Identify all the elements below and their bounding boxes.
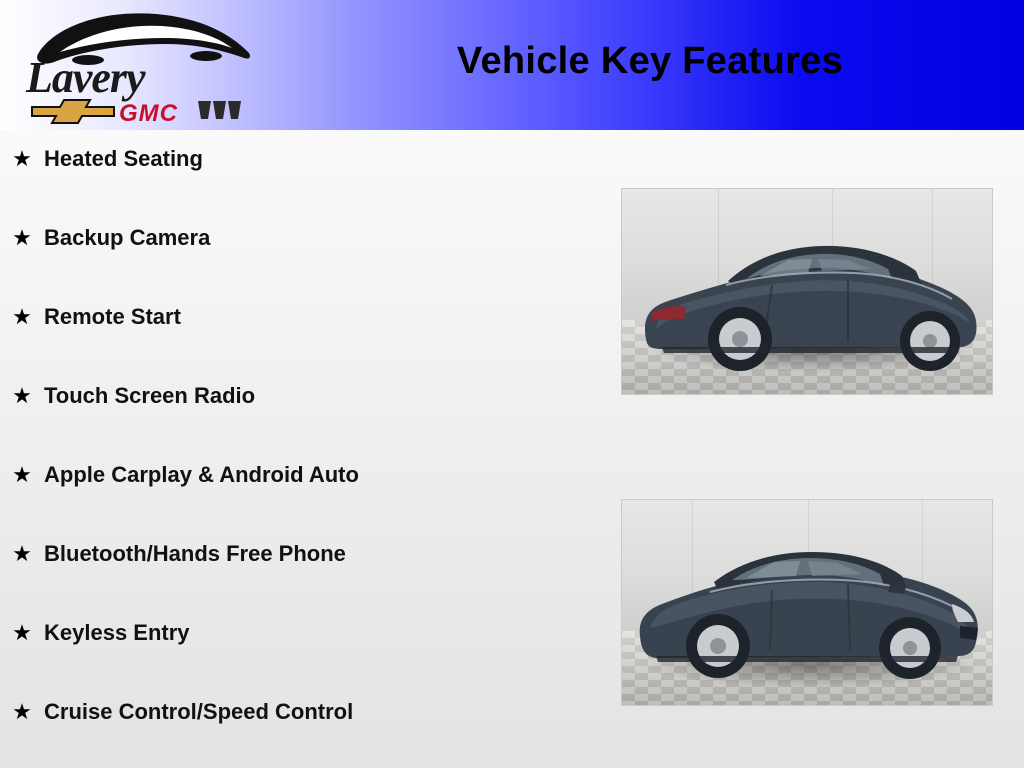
feature-label: Touch Screen Radio: [44, 383, 255, 409]
star-bullet-icon: ★: [0, 543, 44, 565]
car-body-illustration: [622, 189, 993, 395]
logo-gmc-text: GMC: [119, 100, 178, 128]
page-title: Vehicle Key Features: [300, 40, 1000, 83]
buick-tri-shield-icon: [196, 98, 242, 122]
list-item: ★ Cruise Control/Speed Control: [0, 699, 600, 768]
dealer-logo: Lavery GMC: [16, 8, 266, 126]
feature-label: Bluetooth/Hands Free Phone: [44, 541, 346, 567]
list-item: ★ Heated Seating: [0, 146, 600, 225]
star-bullet-icon: ★: [0, 227, 44, 249]
star-bullet-icon: ★: [0, 622, 44, 644]
list-item: ★ Touch Screen Radio: [0, 383, 600, 462]
list-item: ★ Bluetooth/Hands Free Phone: [0, 541, 600, 620]
star-bullet-icon: ★: [0, 148, 44, 170]
feature-label: Apple Carplay & Android Auto: [44, 462, 359, 488]
feature-label: Heated Seating: [44, 146, 203, 172]
vehicle-photo-rear-three-quarter: [621, 188, 993, 395]
star-bullet-icon: ★: [0, 701, 44, 723]
chevrolet-bowtie-icon: [30, 98, 116, 124]
logo-brand-word: Lavery: [26, 52, 145, 103]
star-bullet-icon: ★: [0, 385, 44, 407]
list-item: ★ Apple Carplay & Android Auto: [0, 462, 600, 541]
star-bullet-icon: ★: [0, 464, 44, 486]
car-body-illustration: [622, 500, 993, 706]
list-item: ★ Backup Camera: [0, 225, 600, 304]
feature-label: Backup Camera: [44, 225, 210, 251]
star-bullet-icon: ★: [0, 306, 44, 328]
list-item: ★ Keyless Entry: [0, 620, 600, 699]
features-list: ★ Heated Seating ★ Backup Camera ★ Remot…: [0, 146, 600, 768]
feature-label: Remote Start: [44, 304, 181, 330]
vehicle-photo-front-three-quarter: [621, 499, 993, 706]
feature-label: Keyless Entry: [44, 620, 190, 646]
list-item: ★ Remote Start: [0, 304, 600, 383]
feature-label: Cruise Control/Speed Control: [44, 699, 353, 725]
